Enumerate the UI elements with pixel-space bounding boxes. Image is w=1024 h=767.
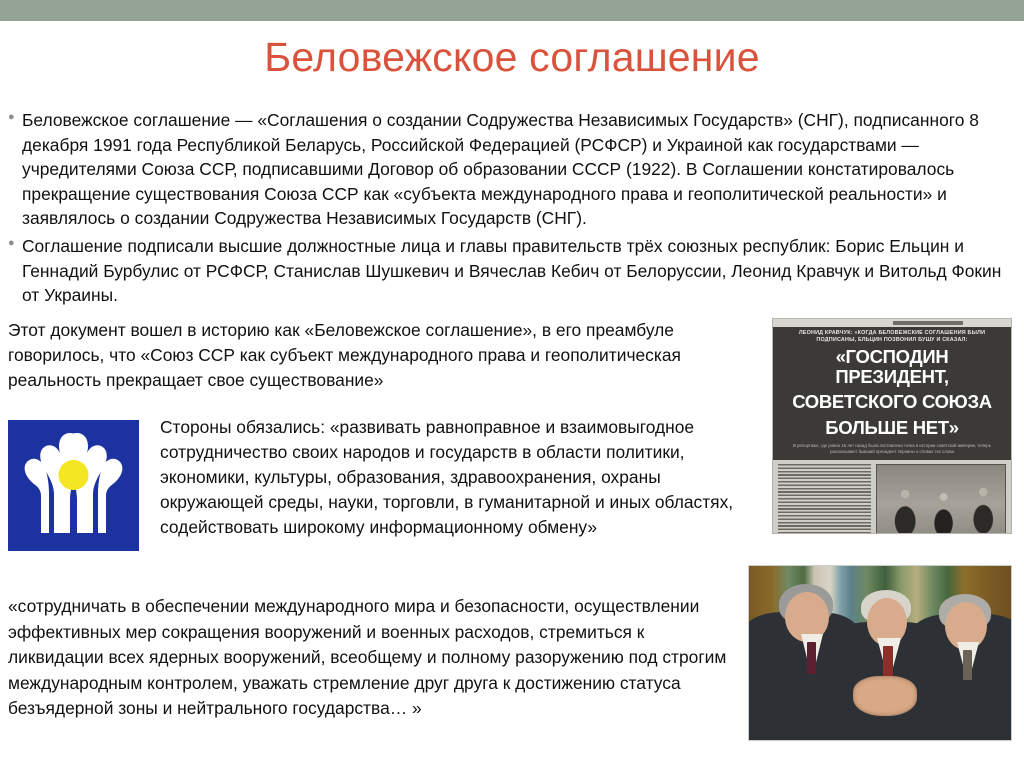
photo-handshake [853, 676, 917, 716]
emblem-cell [8, 415, 160, 551]
list-item: ● Беловежское соглашение — «Соглашения о… [8, 108, 1018, 231]
newspaper-kicker: ЛЕОНИД КРАВЧУК: «КОГДА БЕЛОВЕЖСКИЕ СОГЛА… [773, 327, 1011, 345]
newspaper-headline-line-2: СОВЕТСКОГО СОЮЗА [773, 390, 1011, 416]
newspaper-standfirst: В репортаже, где ровно 15 лет назад была… [773, 441, 1011, 460]
photo-tie-centre [883, 646, 893, 680]
newspaper-headline-line-3: БОЛЬШЕ НЕТ» [773, 416, 1011, 442]
obligations-block: Стороны обязались: «развивать равноправн… [8, 415, 748, 551]
history-paragraph: Этот документ вошел в историю как «Белов… [8, 318, 756, 393]
newspaper-body [773, 460, 1011, 534]
obligations-paragraph: Стороны обязались: «развивать равноправн… [160, 415, 748, 540]
newspaper-headline-line-1: «ГОСПОДИН ПРЕЗИДЕНТ, [773, 345, 1011, 390]
newspaper-text-column [778, 464, 871, 534]
newspaper-clipping: ЛЕОНИД КРАВЧУК: «КОГДА БЕЛОВЕЖСКИЕ СОГЛА… [772, 318, 1012, 534]
newspaper-top-strip [773, 319, 1011, 327]
cis-emblem-icon [8, 420, 139, 551]
bullet-list: ● Беловежское соглашение — «Соглашения о… [8, 108, 1018, 311]
photo-tie-right [963, 650, 972, 680]
list-item-text: Беловежское соглашение — «Соглашения о с… [22, 108, 1018, 231]
newspaper-photo [876, 464, 1006, 534]
bullet-dot-icon: ● [8, 234, 22, 243]
cis-sun-icon [59, 460, 89, 490]
list-item: ● Соглашение подписали высшие должностны… [8, 234, 1018, 308]
bullet-dot-icon: ● [8, 108, 22, 117]
list-item-text: Соглашение подписали высшие должностные … [22, 234, 1018, 308]
presentation-slide: { "slide": { "title": "Беловежское согла… [0, 0, 1024, 767]
cooperation-paragraph: «сотрудничать в обеспечении международно… [8, 594, 734, 722]
leaders-handshake-photo [748, 565, 1012, 741]
top-banner [0, 0, 1024, 21]
slide-title: Беловежское соглашение [0, 30, 1024, 84]
photo-tie-left [807, 642, 816, 674]
